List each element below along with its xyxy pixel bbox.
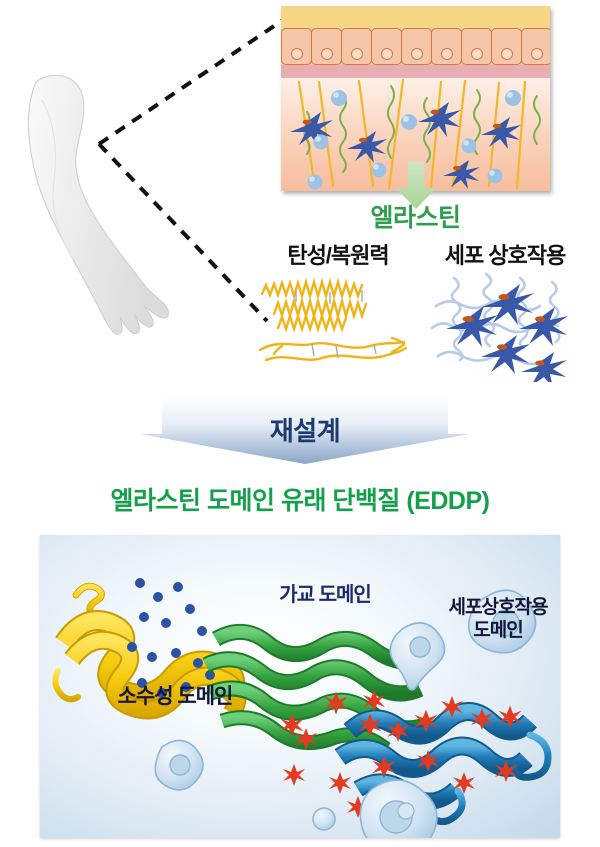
crosslink-domain-label: 가교 도메인 — [245, 578, 405, 607]
cell-interaction-domain-label-line2: 도메인 — [418, 619, 578, 642]
redesign-label: 재설계 — [140, 411, 470, 448]
elasticity-property-label: 탄성/복원력 — [258, 238, 418, 270]
cell-interaction-domain-label: 세포상호작용 도메인 — [418, 596, 578, 642]
hydrophobic-domain-label: 소수성 도메인 — [70, 680, 280, 710]
elastin-title: 엘라스틴 — [281, 198, 550, 234]
dashed-pointer-lower — [95, 140, 270, 325]
stratum-corneum-layer — [281, 6, 550, 28]
eddp-title: 엘라스틴 도메인 유래 단백질 (EDDP) — [0, 481, 600, 517]
basement-membrane-layer — [281, 65, 550, 78]
elastic-fiber-icon — [252, 272, 417, 372]
fibroblast-network-icon — [424, 272, 576, 382]
cell-interaction-property-label: 세포 상호작용 — [420, 238, 590, 270]
cell-interaction-domain-label-line1: 세포상호작용 — [418, 596, 578, 619]
epidermis-layer — [281, 28, 550, 65]
dashed-pointer-upper — [95, 18, 285, 148]
